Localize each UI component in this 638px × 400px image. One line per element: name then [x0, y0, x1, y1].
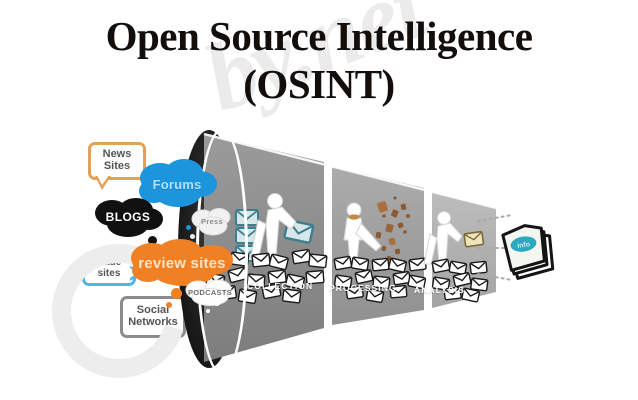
social-networks-tail-inner	[164, 334, 174, 344]
source-bubble-blogs[interactable]: BLOGS	[92, 196, 164, 238]
stage-label-collection: COLLECTION	[247, 281, 313, 291]
source-label-news-sites-line1: News	[103, 148, 132, 160]
review-sites-bubble-dot-large	[171, 288, 182, 299]
source-bubble-press[interactable]: Press	[190, 206, 234, 236]
source-label-social-networks-line1: Social	[137, 304, 169, 316]
podcasts-bubble-dot-large	[214, 300, 220, 306]
source-label-blogs: BLOGS	[92, 196, 164, 238]
source-label-trade-sites-line2: sites	[98, 268, 121, 279]
podcasts-bubble-dot-small	[206, 309, 210, 313]
source-bubble-social-networks[interactable]: Social Networks	[120, 296, 186, 338]
page-title: Open Source Intelligence (OSINT)	[0, 12, 638, 109]
stage-label-analysis: ANALYSIS	[414, 285, 465, 295]
source-label-podcasts: PODCASTS	[184, 278, 236, 306]
source-label-news-sites-line2: Sites	[104, 160, 130, 172]
page-title-line1: Open Source Intelligence	[106, 13, 533, 59]
source-bubble-podcasts[interactable]: PODCASTS	[184, 278, 236, 306]
source-label-trade-sites-line1: trade	[97, 257, 121, 268]
page-title-line2: (OSINT)	[0, 60, 638, 108]
source-label-press: Press	[190, 206, 234, 236]
source-label-social-networks-line2: Networks	[128, 316, 178, 328]
review-sites-bubble-dot-small	[166, 302, 172, 308]
output-report-stack[interactable]: info	[500, 222, 562, 284]
news-sites-tail-inner	[97, 175, 109, 185]
osint-infographic: by.net Open Source Intelligence (OSINT)	[0, 0, 638, 400]
stage-label-processing: PROCESSING	[329, 283, 397, 293]
